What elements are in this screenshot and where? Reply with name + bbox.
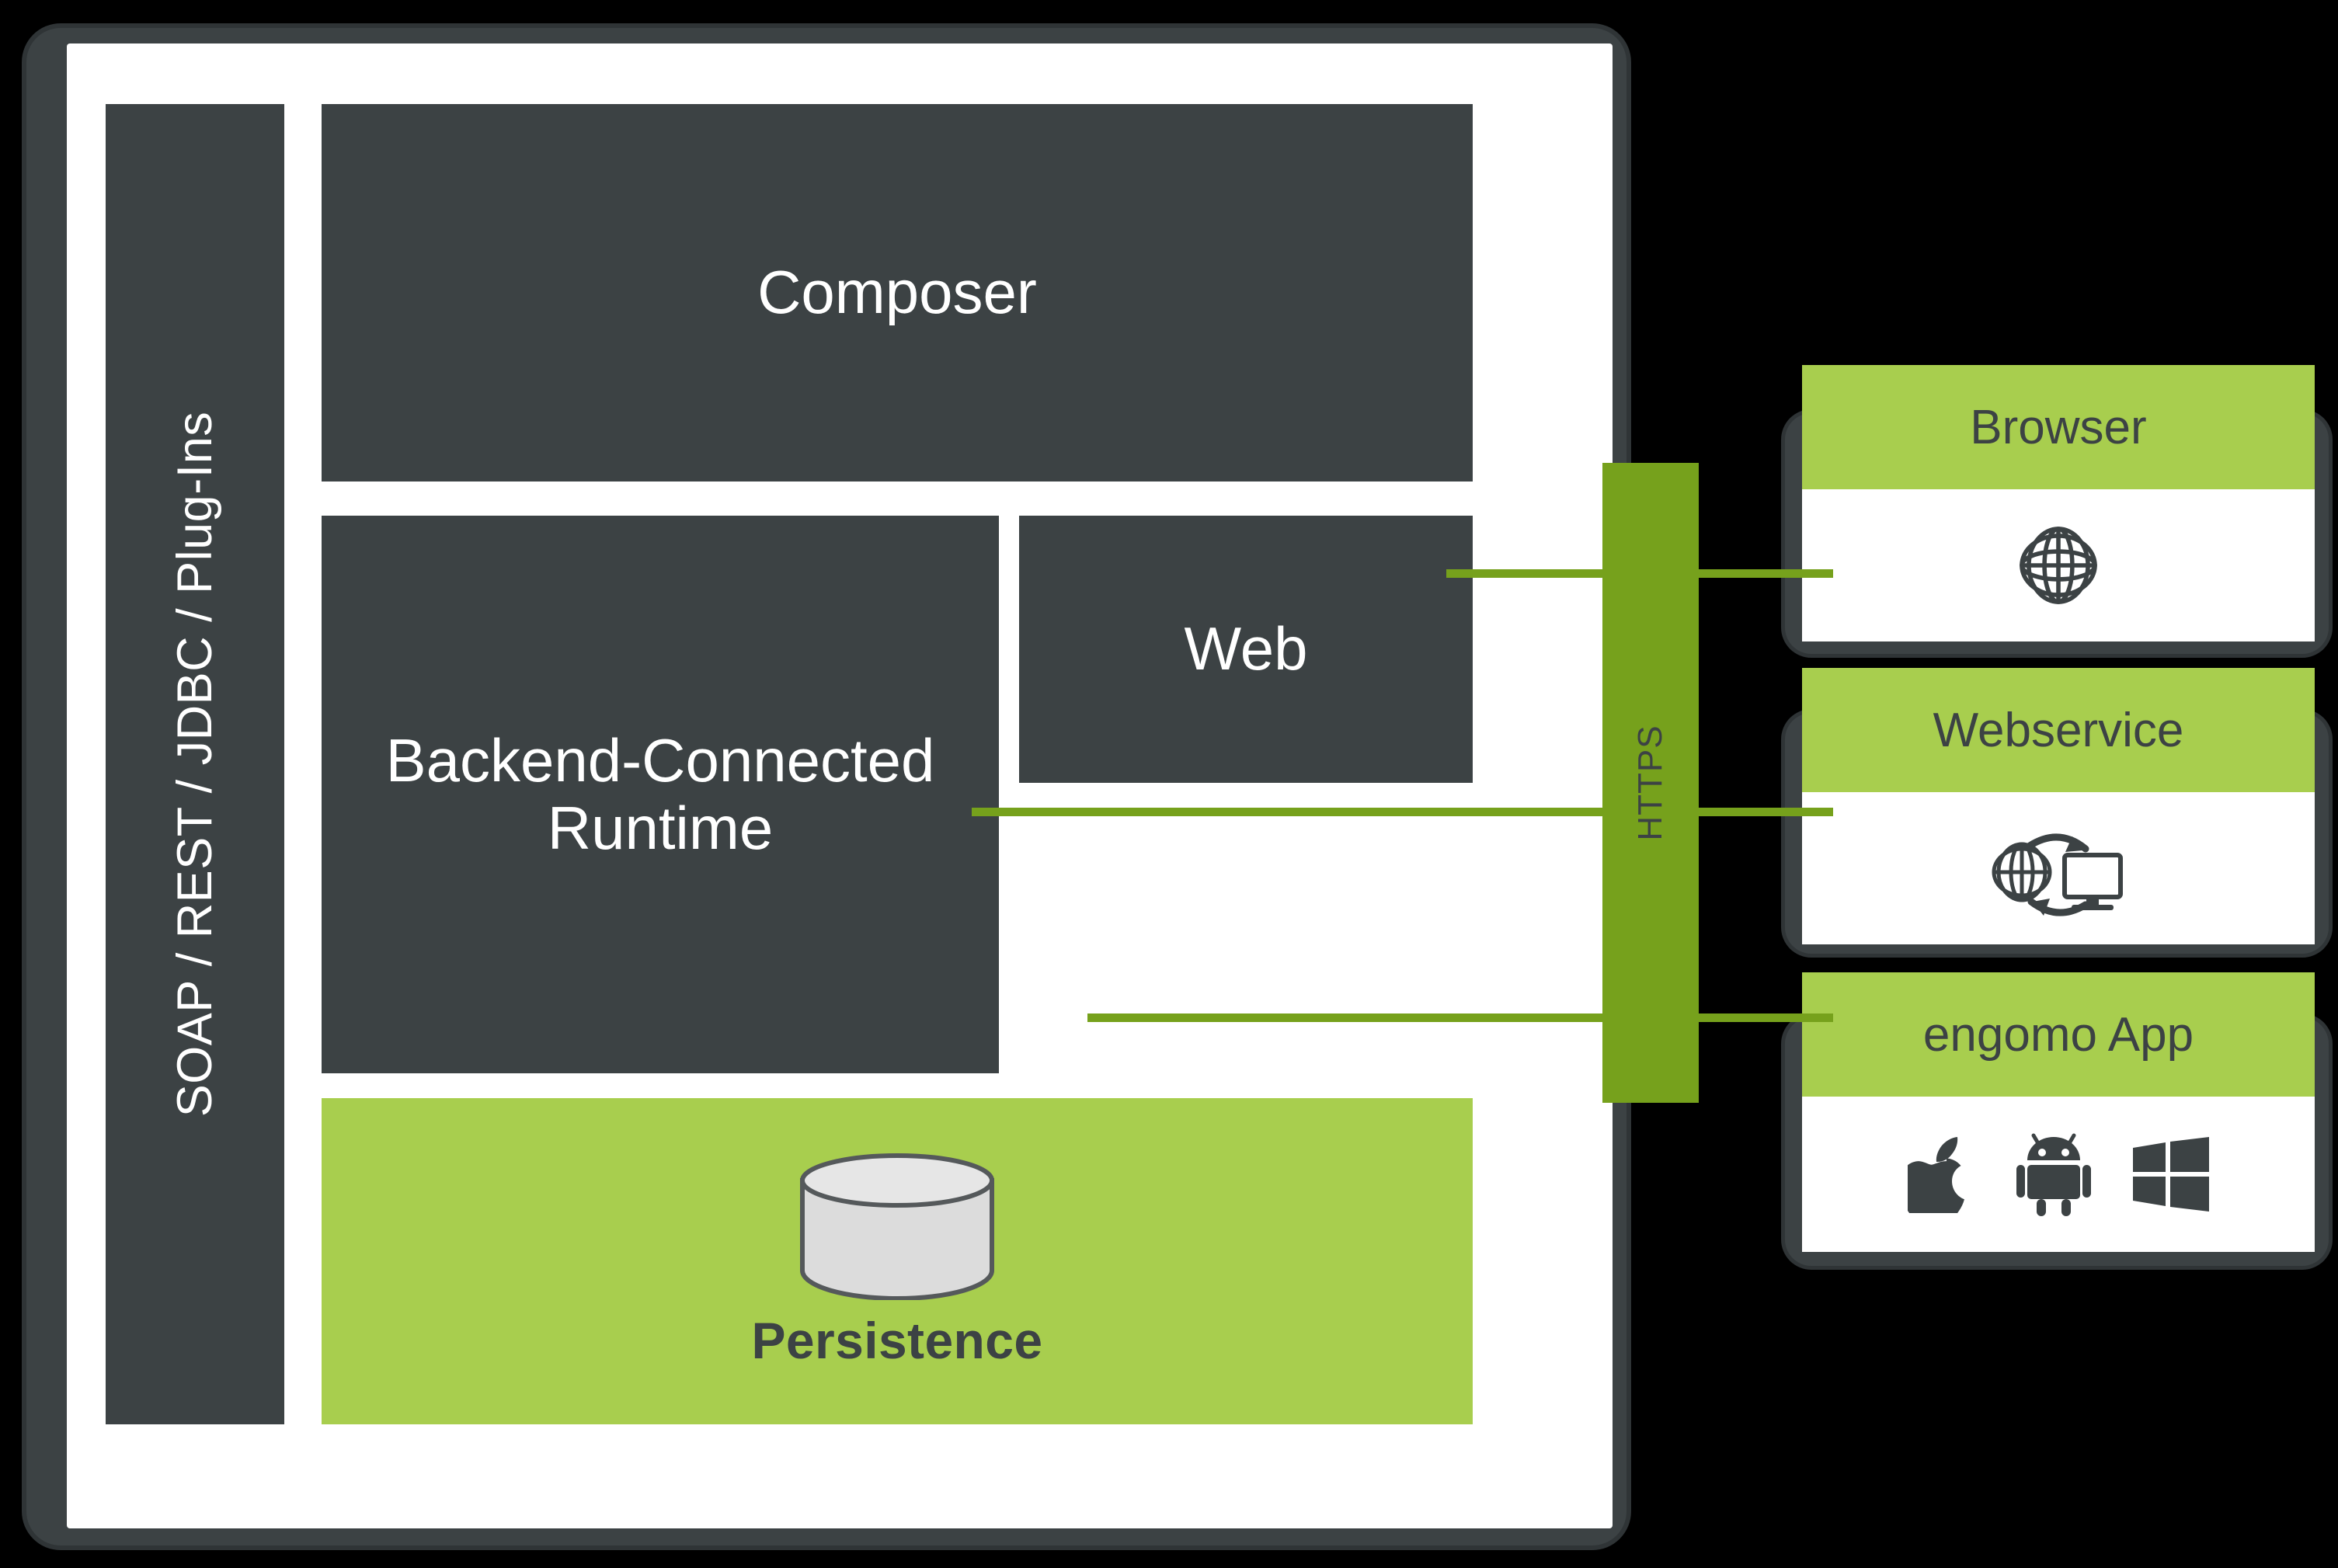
webservice-card-label: Webservice (1933, 703, 2184, 758)
apple-icon (1908, 1135, 1974, 1213)
protocol-strip[interactable]: SOAP / REST / JDBC / Plug-Ins (106, 104, 284, 1424)
block-runtime-label-line1: Backend-Connected (386, 726, 935, 794)
browser-card-header[interactable]: Browser (1802, 365, 2315, 489)
browser-card-label: Browser (1970, 400, 2146, 455)
wire-https-to-browser (1693, 569, 1833, 578)
wire-runtime-to-https-upper (972, 808, 1609, 816)
block-backend-connected-runtime[interactable]: Backend-Connected Runtime (322, 516, 999, 1073)
block-runtime-label: Backend-Connected Runtime (386, 727, 935, 863)
block-composer[interactable]: Composer (322, 104, 1473, 482)
globe-monitor-sync-icon (1985, 818, 2132, 919)
block-web[interactable]: Web (1019, 516, 1473, 783)
windows-icon (2133, 1137, 2209, 1212)
engomo-app-card-body (1802, 1097, 2315, 1252)
webservice-card-body (1802, 792, 2315, 944)
engomo-app-card-header[interactable]: engomo App (1802, 972, 2315, 1097)
block-runtime-label-line2: Runtime (548, 794, 773, 862)
diagram-canvas: SOAP / REST / JDBC / Plug-Ins Composer B… (0, 0, 2338, 1568)
server-device-frame: SOAP / REST / JDBC / Plug-Ins Composer B… (26, 28, 1627, 1545)
block-web-label: Web (1185, 615, 1308, 683)
block-composer-label: Composer (757, 259, 1037, 326)
wire-web-to-https (1446, 569, 1609, 578)
engomo-app-card-label: engomo App (1923, 1007, 2194, 1062)
webservice-card-header[interactable]: Webservice (1802, 668, 2315, 792)
https-connector-label: HTTPS (1631, 725, 1670, 840)
block-persistence[interactable]: Persistence (322, 1098, 1473, 1424)
globe-icon (2015, 522, 2102, 609)
database-cylinder-icon (796, 1153, 998, 1300)
wire-https-to-engomo-app (1693, 1013, 1833, 1022)
wire-https-to-webservice (1693, 808, 1833, 816)
https-connector-bar[interactable]: HTTPS (1602, 463, 1699, 1103)
block-persistence-label: Persistence (752, 1311, 1043, 1370)
wire-runtime-to-https-lower (1087, 1013, 1609, 1022)
browser-card-body (1802, 489, 2315, 641)
android-icon (2016, 1132, 2091, 1216)
protocol-strip-label: SOAP / REST / JDBC / Plug-Ins (167, 412, 223, 1117)
